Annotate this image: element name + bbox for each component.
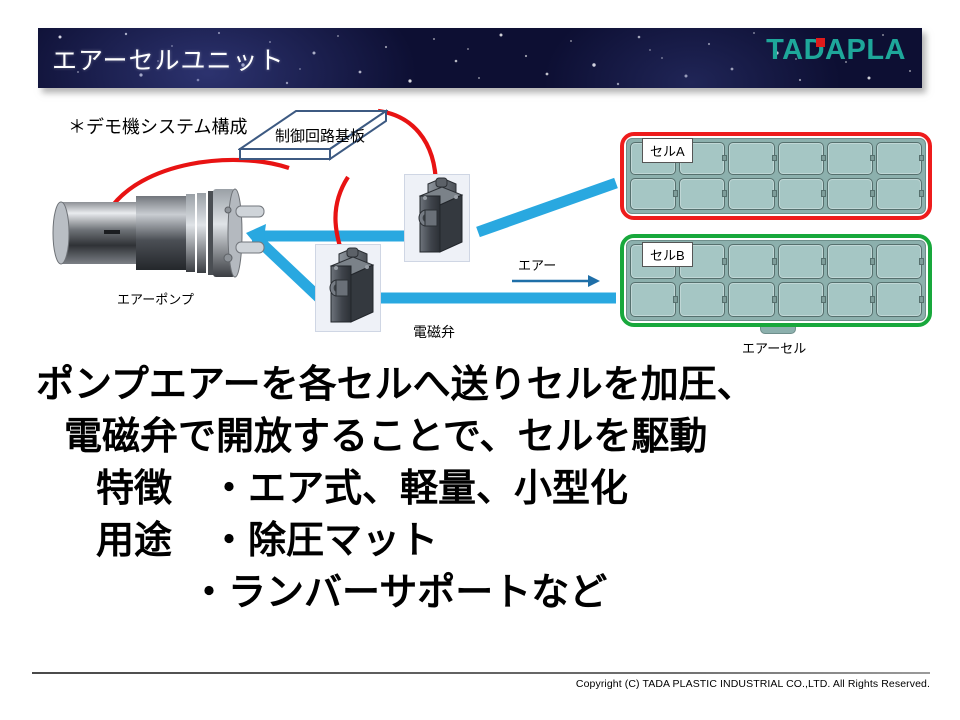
air-pump-illustration: [52, 180, 274, 280]
description-line-5: ・ランバーサポートなど: [0, 566, 960, 618]
logo-text: TADAPLA: [766, 34, 906, 66]
page-title: エアーセルユニット: [52, 41, 285, 77]
solenoid-valve-label: 電磁弁: [413, 322, 455, 342]
air-flow-label: エアー: [518, 255, 556, 274]
description-line-4: 用途 ・除圧マット: [0, 514, 960, 566]
solenoid-valve-upper: [404, 174, 470, 262]
cell-a-label: セルA: [642, 138, 693, 163]
tadapla-logo: TADAPLA: [766, 34, 906, 67]
cell-b-label: セルB: [642, 242, 693, 267]
air-cell-panel-b: セルB: [620, 234, 932, 327]
logo-accent-square: [816, 38, 825, 47]
air-pipe-upper-valve-to-cell-a: [478, 183, 616, 232]
solenoid-valve-lower: [315, 244, 381, 332]
air-cell-label: エアーセル: [742, 338, 806, 357]
description-line-3: 特徴 ・エア式、軽量、小型化: [0, 462, 960, 514]
copyright-notice: Copyright (C) TADA PLASTIC INDUSTRIAL CO…: [576, 678, 930, 690]
air-pump-label: エアーポンプ: [117, 289, 194, 308]
air-flow-arrow-head: [588, 275, 600, 287]
description-line-1: ポンプエアーを各セルへ送りセルを加圧、: [0, 358, 960, 410]
footer-divider: [32, 672, 930, 674]
system-diagram: セルA セルB ＊デモ機システム構成 制御回路: [0, 95, 960, 360]
description-line-2: 電磁弁で開放することで、セルを駆動: [0, 410, 960, 462]
air-cell-panel-a: セルA: [620, 132, 932, 220]
control-board-label: 制御回路基板: [275, 125, 365, 146]
description-text-block: ポンプエアーを各セルへ送りセルを加圧、 電磁弁で開放することで、セルを駆動 特徴…: [0, 358, 960, 618]
diagram-heading: ＊デモ機システム構成: [68, 113, 247, 139]
slide-canvas: エアーセルユニット TADAPLA: [0, 0, 960, 720]
title-banner: エアーセルユニット TADAPLA: [38, 28, 922, 88]
